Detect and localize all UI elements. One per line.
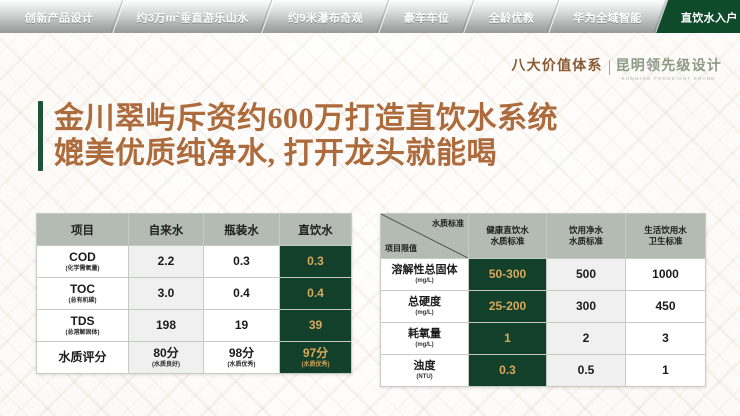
left-row-1-label-main: TOC [37, 283, 128, 296]
nav-tab-5[interactable]: 华为全域智能 [554, 0, 661, 33]
left-th-2: 瓶装水 [204, 214, 280, 246]
water-comparison-table: 项目 自来水 瓶装水 直饮水 COD (化学需氧量) 2.2 0.3 0.3 T… [36, 213, 352, 374]
left-row-2-col-2: 19 [204, 310, 280, 342]
left-row-2-col-3-highlight: 39 [280, 310, 352, 342]
table-row: 浊度 (NTU) 0.3 0.5 1 [381, 355, 706, 387]
headline-block: 金川翠屿斥资约600万打造直饮水系统 媲美优质纯净水, 打开龙头就能喝 [38, 101, 558, 171]
right-row-2-col-2: 2 [547, 323, 626, 355]
right-row-0-label: 溶解性总固体 (mg/L) [381, 259, 469, 291]
right-th-0: 健康直饮水 水质标准 [469, 214, 547, 259]
headline-line-1: 金川翠屿斥资约600万打造直饮水系统 [54, 101, 558, 136]
left-row-0-col-1: 2.2 [129, 246, 204, 278]
left-row-1-label-sub: (总有机碳) [37, 297, 128, 305]
left-row-2-label: TDS (总溶解固体) [37, 310, 129, 342]
right-row-3-label: 浊度 (NTU) [381, 355, 469, 387]
left-row-0-label: COD (化学需氧量) [37, 246, 129, 278]
corner-label-top-right: 水质标准 [432, 218, 464, 229]
left-row-1-col-1: 3.0 [129, 278, 204, 310]
nav-tab-5-label: 华为全域智能 [573, 9, 641, 25]
table-header-row: 项目 自来水 瓶装水 直饮水 [37, 214, 352, 246]
nav-tab-0[interactable]: 创新产品设计 [0, 0, 118, 33]
left-row-3-label: 水质评分 [37, 342, 129, 374]
headline-text: 金川翠屿斥资约600万打造直饮水系统 媲美优质纯净水, 打开龙头就能喝 [54, 101, 558, 171]
left-th-3: 直饮水 [280, 214, 352, 246]
nav-tab-6-active[interactable]: 直饮水入户 [655, 0, 740, 33]
brand-sub-english: KUNMING FORESIGHT BRAND [622, 76, 716, 81]
nav-tab-3[interactable]: 豪车车位 [384, 0, 469, 33]
right-row-0-col-1-highlight: 50-300 [469, 259, 547, 291]
brand-sub-group: 昆明领先级设计 KUNMING FORESIGHT BRAND [616, 58, 722, 81]
left-th-0: 项目 [37, 214, 129, 246]
left-row-2-label-sub: (总溶解固体) [37, 329, 128, 337]
table-row: COD (化学需氧量) 2.2 0.3 0.3 [37, 246, 352, 278]
left-row-0-label-main: COD [37, 251, 128, 264]
left-row-3-col-1: 80分 (水质良好) [129, 342, 204, 374]
table-row: TOC (总有机碳) 3.0 0.4 0.4 [37, 278, 352, 310]
right-row-1-col-3: 450 [626, 291, 706, 323]
left-row-3-col-3-highlight: 97分 (水质优秀) [280, 342, 352, 374]
right-row-1-col-2: 300 [547, 291, 626, 323]
right-row-2-col-1-highlight: 1 [469, 323, 547, 355]
table-row: 溶解性总固体 (mg/L) 50-300 500 1000 [381, 259, 706, 291]
nav-tab-1-label: 约3万m2垂直游乐山水 [136, 9, 248, 25]
right-row-3-col-1-highlight: 0.3 [469, 355, 547, 387]
right-row-0-col-2: 500 [547, 259, 626, 291]
nav-tab-2[interactable]: 约9米瀑布奇观 [267, 0, 384, 33]
brand-divider [609, 60, 610, 75]
nav-tab-4[interactable]: 全龄优教 [469, 0, 554, 33]
right-row-0-col-3: 1000 [626, 259, 706, 291]
corner-label-bottom-left: 项目限值 [385, 243, 417, 254]
top-nav-bar: 创新产品设计 约3万m2垂直游乐山水 约9米瀑布奇观 豪车车位 全龄优教 华为全… [0, 0, 740, 33]
left-th-1: 自来水 [129, 214, 204, 246]
nav-tab-4-label: 全龄优教 [489, 9, 535, 25]
table-row: TDS (总溶解固体) 198 19 39 [37, 310, 352, 342]
left-row-3-col-2: 98分 (水质优秀) [204, 342, 280, 374]
left-row-0-col-2: 0.3 [204, 246, 280, 278]
left-row-1-label: TOC (总有机碳) [37, 278, 129, 310]
table-row: 总硬度 (mg/L) 25-200 300 450 [381, 291, 706, 323]
brand-lockup: 八大价值体系 昆明领先级设计 KUNMING FORESIGHT BRAND [511, 58, 722, 81]
nav-tab-3-label: 豪车车位 [404, 9, 450, 25]
left-row-2-label-main: TDS [37, 315, 128, 328]
right-row-2-label: 耗氧量 (mg/L) [381, 323, 469, 355]
right-row-1-label: 总硬度 (mg/L) [381, 291, 469, 323]
right-row-2-col-3: 3 [626, 323, 706, 355]
left-row-3-label-main: 水质评分 [37, 351, 128, 364]
right-th-2: 生活饮用水 卫生标准 [626, 214, 706, 259]
right-row-1-col-1-highlight: 25-200 [469, 291, 547, 323]
left-row-1-col-2: 0.4 [204, 278, 280, 310]
nav-tab-1[interactable]: 约3万m2垂直游乐山水 [118, 0, 267, 33]
left-row-1-col-3-highlight: 0.4 [280, 278, 352, 310]
table-header-row: 水质标准 项目限值 健康直饮水 水质标准 饮用净水 水质标准 生活饮用水 卫生标… [381, 214, 706, 259]
nav-tab-2-label: 约9米瀑布奇观 [288, 9, 363, 25]
corner-header-cell: 水质标准 项目限值 [381, 214, 469, 259]
table-row: 耗氧量 (mg/L) 1 2 3 [381, 323, 706, 355]
nav-tab-6-label: 直饮水入户 [681, 9, 738, 25]
right-row-3-col-3: 1 [626, 355, 706, 387]
headline-accent-bar [38, 101, 43, 171]
brand-sub-text: 昆明领先级设计 [616, 58, 722, 75]
left-row-0-col-3-highlight: 0.3 [280, 246, 352, 278]
table-row: 水质评分 80分 (水质良好) 98分 (水质优秀) 97分 (水质优秀) [37, 342, 352, 374]
nav-tab-0-label: 创新产品设计 [25, 9, 93, 25]
left-row-0-label-sub: (化学需氧量) [37, 265, 128, 273]
headline-line-2: 媲美优质纯净水, 打开龙头就能喝 [54, 136, 558, 171]
right-th-1: 饮用净水 水质标准 [547, 214, 626, 259]
right-row-3-col-2: 0.5 [547, 355, 626, 387]
left-row-2-col-1: 198 [129, 310, 204, 342]
brand-main-text: 八大价值体系 [511, 58, 602, 75]
water-standards-table: 水质标准 项目限值 健康直饮水 水质标准 饮用净水 水质标准 生活饮用水 卫生标… [380, 213, 706, 387]
